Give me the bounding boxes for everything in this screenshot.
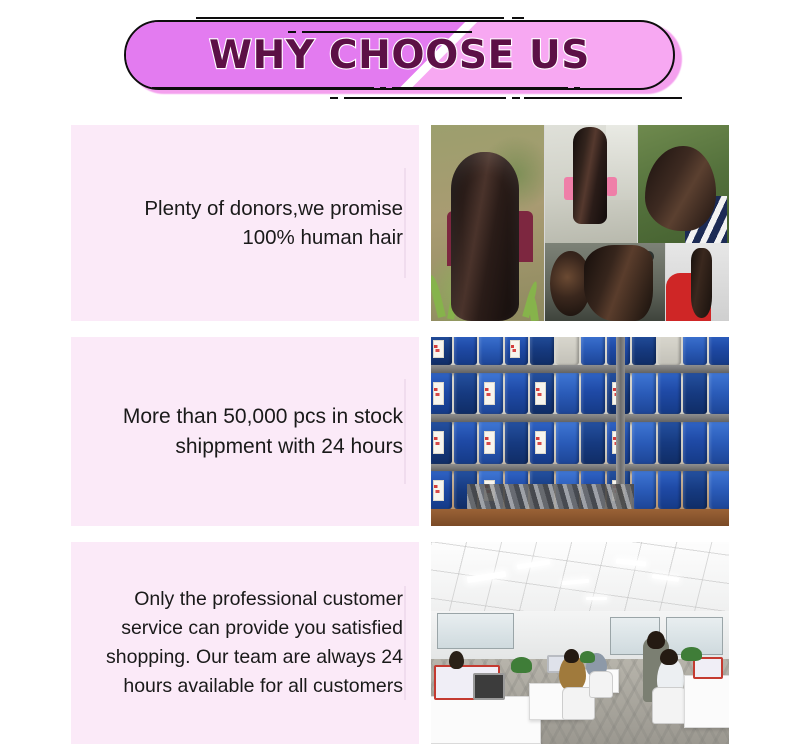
subject-top — [515, 211, 533, 262]
storage-bin — [683, 422, 707, 464]
desk — [684, 675, 729, 728]
storage-bin — [431, 337, 452, 365]
storage-bin — [658, 337, 682, 365]
desk-plant — [681, 647, 702, 661]
person-seated — [449, 651, 464, 669]
storage-bin — [479, 337, 503, 365]
bin-row — [431, 337, 729, 365]
storage-bin — [479, 422, 503, 464]
storage-bin — [632, 422, 656, 464]
shelf-beam — [431, 365, 729, 373]
hair-collage — [431, 125, 729, 321]
storage-bin — [709, 471, 729, 509]
feature-row-donors: Plenty of donors,we promise 100% human h… — [71, 125, 729, 321]
panel-seam — [404, 379, 406, 485]
storage-bin — [431, 373, 452, 415]
bin-label — [433, 431, 444, 454]
storage-bin — [683, 471, 707, 509]
storage-bin — [658, 471, 682, 509]
storage-bin — [431, 471, 452, 509]
decorative-dash-line — [196, 17, 504, 19]
storage-bin — [505, 373, 529, 415]
hair-photo-red-shirt-ponytail — [666, 243, 729, 321]
storage-bin — [530, 373, 554, 415]
feature-text-donors: Plenty of donors,we promise 100% human h… — [89, 194, 403, 252]
bin-label — [535, 382, 546, 405]
warehouse-photo — [431, 337, 729, 526]
storage-bin — [658, 422, 682, 464]
storage-bin — [454, 373, 478, 415]
grass-blade — [431, 274, 446, 318]
person-head — [564, 649, 579, 663]
storage-bin — [479, 373, 503, 415]
text-panel-stock: More than 50,000 pcs in stock shippment … — [71, 337, 419, 526]
bin-row — [431, 422, 729, 464]
panel-seam — [404, 168, 406, 278]
bin-label — [535, 431, 546, 454]
hair-photo-indoor-chair — [545, 125, 636, 243]
subject-top — [447, 211, 472, 266]
decorative-dash-line — [512, 17, 524, 19]
office-chair — [589, 671, 613, 697]
grass-blade — [447, 286, 459, 320]
bin-row — [431, 373, 729, 415]
storage-bin — [530, 337, 554, 365]
storage-bin — [709, 337, 729, 365]
feature-row-service: Only the professional customer service c… — [71, 542, 729, 744]
shelf-beam — [431, 414, 729, 422]
shelf-beam — [431, 464, 729, 472]
storage-bin — [581, 337, 605, 365]
storage-bin — [505, 422, 529, 464]
storage-bin — [683, 373, 707, 415]
storage-bin — [505, 337, 529, 365]
pink-cloth — [606, 177, 617, 196]
media-panel-warehouse: Warehouse shelving racks filled with blu… — [431, 337, 729, 526]
decorative-dash-line — [330, 97, 338, 99]
feature-text-stock: More than 50,000 pcs in stock shippment … — [89, 402, 403, 462]
glass-partition — [437, 613, 514, 649]
bin-label — [433, 382, 444, 405]
decorative-dash-line — [512, 97, 520, 99]
text-panel-donors: Plenty of donors,we promise 100% human h… — [71, 125, 419, 321]
hair-photo-ponytail-outdoor — [638, 125, 729, 243]
storage-bin — [683, 337, 707, 365]
hair-photo-outdoor-long-hair — [431, 125, 544, 321]
storage-bin — [709, 373, 729, 415]
bin-label — [484, 431, 495, 454]
storage-bin — [709, 422, 729, 464]
feature-row-stock: More than 50,000 pcs in stock shippment … — [71, 337, 729, 526]
storage-bin — [454, 337, 478, 365]
desk — [431, 696, 541, 744]
banner-title: WHY CHOOSE US — [124, 20, 675, 90]
office-chair — [652, 687, 688, 723]
text-panel-service: Only the professional customer service c… — [71, 542, 419, 744]
storage-bin — [632, 471, 656, 509]
storage-bin — [556, 422, 580, 464]
feature-text-service: Only the professional customer service c… — [89, 585, 403, 702]
storage-bin — [556, 373, 580, 415]
storage-bin — [658, 373, 682, 415]
bin-label — [433, 340, 444, 358]
banner: WHY CHOOSE US — [0, 0, 800, 112]
panel-seam — [404, 586, 406, 699]
storage-bin — [632, 337, 656, 365]
red-shirt — [666, 273, 712, 321]
bin-label — [433, 480, 444, 501]
decorative-dash-line — [344, 97, 506, 99]
striped-shirt — [685, 196, 727, 243]
storage-bin — [556, 337, 580, 365]
storage-bin — [581, 373, 605, 415]
pink-cloth — [564, 177, 577, 201]
bin-label — [484, 382, 495, 405]
laptop — [473, 673, 506, 699]
why-choose-us-infographic: WHY CHOOSE US Plenty of donors,we promis… — [0, 0, 800, 750]
person-head — [647, 631, 665, 649]
storage-bin — [581, 422, 605, 464]
office-photo — [431, 542, 729, 744]
storage-bin — [431, 422, 452, 464]
media-panel-office: Open plan modern office with staff worki… — [431, 542, 729, 744]
storage-bin — [454, 422, 478, 464]
warehouse-floor — [431, 509, 729, 526]
hair-photo-hair-bun — [545, 243, 664, 321]
bin-label — [510, 340, 521, 358]
media-panel-hair-collage: Collage of five photos of women with ver… — [431, 125, 729, 321]
desk-plant — [511, 657, 532, 673]
desk-plant — [580, 651, 595, 663]
storage-bin — [632, 373, 656, 415]
decorative-dash-line — [524, 97, 682, 99]
storage-bin — [530, 422, 554, 464]
wall-fixture — [643, 251, 654, 262]
person-head — [660, 649, 678, 665]
ceiling-light — [586, 597, 607, 601]
